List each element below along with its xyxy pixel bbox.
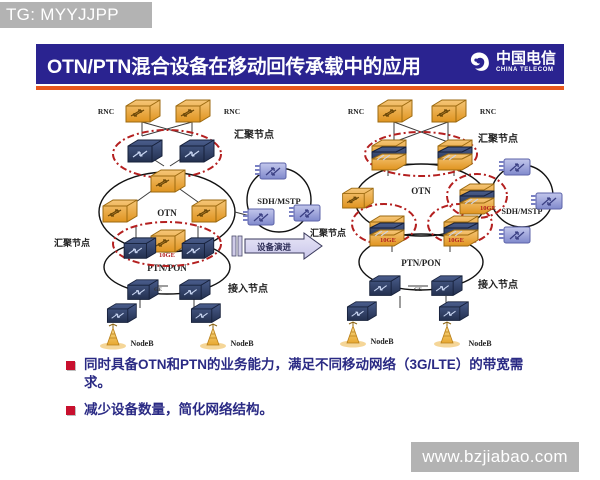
watermark-bottom-right: www.bzjiabao.com (411, 442, 579, 472)
right-mstp-node-1 (499, 159, 530, 175)
left-nodeb-label-2: NodeB (230, 339, 254, 348)
right-nodeb-tower-1 (340, 322, 366, 348)
right-access-switch-2 (432, 276, 462, 296)
left-agg-switch-2 (180, 140, 214, 162)
right-access-label: 接入节点 (478, 278, 518, 291)
left-otn-node-top (151, 170, 185, 192)
right-topology: OTN PTN/PON SDH/MSTP (310, 100, 562, 348)
left-agg-switch-1 (128, 140, 162, 162)
left-rnc-label-2: RNC (224, 107, 240, 116)
right-rnc-label-2: RNC (480, 107, 496, 116)
right-ring-ptn-label: PTN/PON (401, 258, 441, 268)
right-link-speed-label-1: 10GE (380, 237, 396, 244)
right-rnc-label-1: RNC (348, 107, 364, 116)
right-cell-switch-2 (439, 302, 468, 321)
right-hybrid-agg-2 (438, 140, 472, 170)
right-ring-otn-label: OTN (411, 186, 431, 196)
left-rnc-router-2 (176, 100, 210, 122)
list-item: 同时具备OTN和PTN的业务能力，满足不同移动网络（3G/LTE）的带宽需求。 (66, 356, 546, 392)
right-mstp-node-2 (531, 193, 562, 209)
right-cell-switch-1 (347, 302, 376, 321)
china-telecom-logo: 中国电信 CHINA TELECOM (466, 50, 556, 76)
right-link-speed-label-3: 10GE (480, 205, 496, 212)
logo-text-cn: 中国电信 (496, 52, 556, 66)
left-topology: OTN PTN/PON SDH/MSTP (54, 100, 320, 350)
left-mstp-node-2 (289, 205, 320, 221)
left-mstp-node-3 (243, 209, 274, 225)
bullet-list: 同时具备OTN和PTN的业务能力，满足不同移动网络（3G/LTE）的带宽需求。 … (66, 356, 546, 428)
left-mstp-node-1 (255, 163, 286, 179)
left-ptn-agg-1 (124, 238, 156, 258)
right-ge-label: GE (414, 287, 422, 293)
left-rnc-router-1 (126, 100, 160, 122)
right-access-switch-1 (370, 276, 400, 296)
left-nodeb-tower-2 (200, 324, 226, 350)
right-mstp-node-3 (499, 227, 530, 243)
network-diagram: OTN PTN/PON SDH/MSTP (36, 90, 564, 352)
logo-text-en: CHINA TELECOM (496, 66, 556, 74)
left-access-switch-2 (180, 280, 210, 300)
left-ring-sdh-label: SDH/MSTP (257, 196, 300, 206)
list-item: 减少设备数量，简化网络结构。 (66, 401, 546, 419)
watermark-top-left: TG: MYYJJPP (0, 2, 152, 28)
right-otn-node-west (343, 188, 374, 208)
evolution-arrow: 设备演进 (232, 233, 322, 259)
left-aggregation-label-bottom: 汇聚节点 (54, 237, 90, 248)
left-nodeb-label-1: NodeB (130, 339, 154, 348)
telecom-swirl-icon (466, 50, 492, 76)
bullet-text: 减少设备数量，简化网络结构。 (84, 401, 273, 419)
right-rnc-router-2 (432, 100, 466, 122)
diagram-svg: OTN PTN/PON SDH/MSTP (36, 90, 564, 352)
right-rnc-router-1 (378, 100, 412, 122)
left-ptn-agg-2 (182, 238, 214, 258)
left-cell-switch-2 (191, 304, 220, 323)
left-ring-otn-label: OTN (157, 208, 177, 218)
left-cell-switch-1 (107, 304, 136, 323)
bullet-square-icon (66, 361, 75, 370)
right-aggregation-label-top: 汇聚节点 (478, 132, 518, 145)
right-nodeb-label-2: NodeB (468, 339, 492, 348)
left-nodeb-tower-1 (100, 324, 126, 350)
right-hybrid-agg-1 (372, 140, 406, 170)
left-access-label: 接入节点 (228, 282, 268, 295)
bullet-text: 同时具备OTN和PTN的业务能力，满足不同移动网络（3G/LTE）的带宽需求。 (84, 356, 546, 392)
right-nodeb-label-1: NodeB (370, 337, 394, 346)
title-bar: OTN/PTN混合设备在移动回传承载中的应用 中国电信 CHINA TELECO… (36, 44, 564, 84)
slide-root: TG: MYYJJPP OTN/PTN混合设备在移动回传承载中的应用 中国电信 … (0, 0, 600, 480)
left-otn-node-west (103, 200, 137, 222)
left-otn-node-east (192, 200, 226, 222)
left-link-speed-label: 10GE (159, 252, 175, 259)
page-title: OTN/PTN混合设备在移动回传承载中的应用 (47, 50, 421, 79)
right-nodeb-tower-2 (434, 322, 460, 348)
left-rnc-label-1: RNC (98, 107, 114, 116)
left-ge-label: GE (154, 287, 162, 293)
bullet-square-icon (66, 406, 75, 415)
right-aggregation-label-bottom: 汇聚节点 (310, 227, 346, 238)
right-link-speed-label-2: 10GE (448, 237, 464, 244)
left-aggregation-label-top: 汇聚节点 (234, 128, 274, 141)
evolution-arrow-label: 设备演进 (257, 242, 292, 252)
